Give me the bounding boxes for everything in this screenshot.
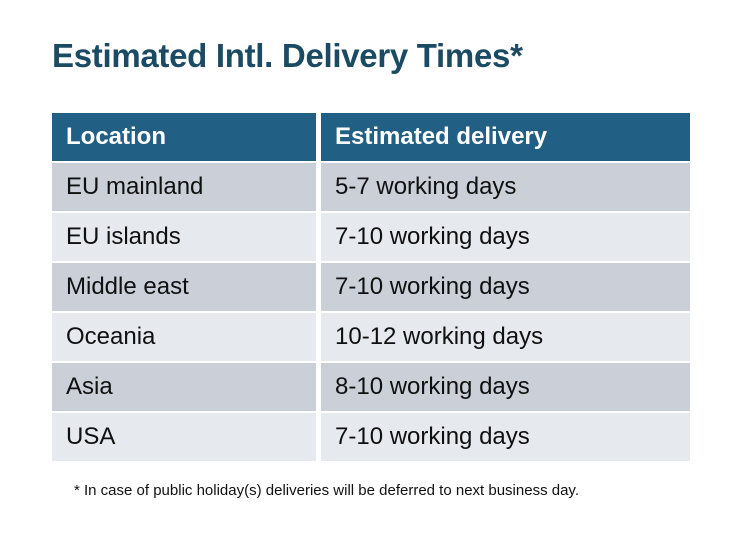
delivery-times-page: Estimated Intl. Delivery Times* Location…	[0, 0, 745, 536]
cell-location: Middle east	[52, 263, 316, 311]
cell-location: Asia	[52, 363, 316, 411]
cell-delivery: 5-7 working days	[321, 163, 690, 211]
delivery-times-table: Location Estimated delivery EU mainland …	[52, 113, 690, 461]
table-row: Middle east 7-10 working days	[52, 263, 690, 311]
cell-location: EU mainland	[52, 163, 316, 211]
page-title: Estimated Intl. Delivery Times*	[52, 36, 523, 76]
table-header-row: Location Estimated delivery	[52, 113, 690, 161]
cell-delivery: 7-10 working days	[321, 263, 690, 311]
cell-location: USA	[52, 413, 316, 461]
cell-location: EU islands	[52, 213, 316, 261]
table-row: USA 7-10 working days	[52, 413, 690, 461]
cell-delivery: 7-10 working days	[321, 413, 690, 461]
table-row: Asia 8-10 working days	[52, 363, 690, 411]
table-row: Oceania 10-12 working days	[52, 313, 690, 361]
column-header-location: Location	[52, 113, 316, 161]
footnote-text: * In case of public holiday(s) deliverie…	[74, 481, 579, 501]
cell-delivery: 7-10 working days	[321, 213, 690, 261]
column-header-estimated-delivery: Estimated delivery	[321, 113, 690, 161]
cell-delivery: 8-10 working days	[321, 363, 690, 411]
table-row: EU mainland 5-7 working days	[52, 163, 690, 211]
cell-delivery: 10-12 working days	[321, 313, 690, 361]
cell-location: Oceania	[52, 313, 316, 361]
table-row: EU islands 7-10 working days	[52, 213, 690, 261]
